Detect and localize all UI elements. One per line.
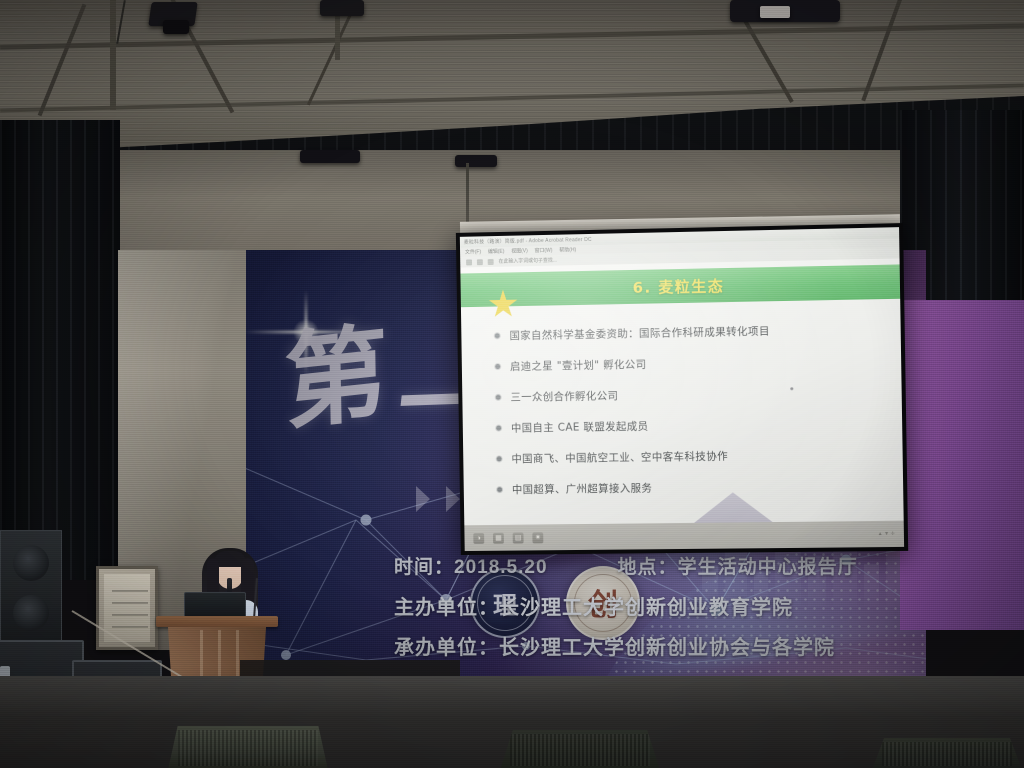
bullet-text: 中国超算、广州超算接入服务 bbox=[512, 480, 653, 497]
speaker-stack bbox=[0, 530, 62, 650]
stage-light-icon bbox=[455, 155, 497, 167]
projected-image: 麦粒科技（路演）简版.pdf - Adobe Acrobat Reader DC… bbox=[460, 227, 904, 551]
save-icon[interactable] bbox=[488, 258, 494, 264]
stage-monitor-wedge bbox=[500, 730, 660, 768]
stage-monitor-wedge bbox=[872, 738, 1022, 768]
stage-light-icon bbox=[300, 150, 360, 163]
bullet-text: 三一众创合作孵化公司 bbox=[510, 388, 618, 405]
pdf-app-title: 麦粒科技（路演）简版.pdf - Adobe Acrobat Reader DC bbox=[464, 236, 592, 246]
slide-bullet-item: 国家自然科学基金委资助：国际合作科研成果转化项目 bbox=[495, 321, 885, 343]
dust-speck bbox=[790, 387, 793, 390]
plaque-inner bbox=[104, 574, 150, 642]
slide-bullet-item: 启迪之星 "壹计划" 孵化公司 bbox=[495, 352, 885, 374]
slide-bullet-item: 中国商飞、中国航空工业、空中客车科技协作 bbox=[497, 446, 887, 466]
bottombar-status: ▲ ▼ ✛ bbox=[878, 531, 895, 537]
bullet-text: 启迪之星 "壹计划" 孵化公司 bbox=[510, 357, 647, 374]
projection-screen-frame: 麦粒科技（路演）简版.pdf - Adobe Acrobat Reader DC… bbox=[456, 223, 908, 555]
stage-monitor-wedge bbox=[168, 726, 328, 768]
home-icon[interactable] bbox=[466, 259, 472, 265]
framed-plaque bbox=[96, 566, 158, 650]
bullet-dot-icon bbox=[496, 426, 501, 431]
podium-top bbox=[156, 616, 278, 627]
bullet-dot-icon bbox=[495, 333, 500, 338]
menu-item-view[interactable]: 视图(V) bbox=[511, 247, 528, 254]
stage-light-lens bbox=[760, 6, 790, 18]
toolbar-search-hint[interactable]: 在此输入字词或句子查找... bbox=[498, 257, 556, 265]
bullet-text: 中国商飞、中国航空工业、空中客车科技协作 bbox=[511, 448, 728, 466]
banner-right-edge bbox=[900, 300, 1024, 630]
tools-icon[interactable] bbox=[477, 259, 483, 265]
slide-bullet-list: 国家自然科学基金委资助：国际合作科研成果转化项目 启迪之星 "壹计划" 孵化公司… bbox=[461, 299, 903, 498]
slide-bullet-item: 中国自主 CAE 联盟发起成员 bbox=[496, 415, 886, 436]
bullet-dot-icon bbox=[497, 456, 502, 461]
pdf-app-bottombar: ◑ ▦ ▤ ✷ ▲ ▼ ✛ bbox=[464, 521, 904, 551]
bullet-dot-icon bbox=[497, 487, 502, 492]
curtain-folds bbox=[0, 120, 120, 580]
bullet-dot-icon bbox=[496, 395, 501, 400]
slide-canvas: 6. 麦粒生态 国家自然科学基金委资助：国际合作科研成果转化项目 启迪之星 "壹… bbox=[460, 258, 903, 525]
slide-decoration-shape bbox=[673, 492, 794, 526]
bullet-dot-icon bbox=[495, 364, 500, 369]
bullet-text: 国家自然科学基金委资助：国际合作科研成果转化项目 bbox=[509, 323, 770, 343]
page-view-icon[interactable]: ◑ bbox=[473, 533, 484, 544]
bullet-text: 中国自主 CAE 联盟发起成员 bbox=[511, 418, 649, 435]
menu-item-help[interactable]: 帮助(H) bbox=[559, 246, 576, 253]
venue-photo: 第 一 策 划 来 bbox=[0, 0, 1024, 768]
slide-bullet-item: 中国超算、广州超算接入服务 bbox=[497, 477, 887, 497]
stage-light-icon bbox=[320, 0, 364, 16]
truss-post bbox=[110, 0, 116, 110]
slide-bullet-item: 三一众创合作孵化公司 bbox=[496, 384, 886, 405]
slide-title: 6. 麦粒生态 bbox=[632, 275, 724, 298]
menu-item-window[interactable]: 窗口(W) bbox=[535, 247, 553, 254]
menu-item-edit[interactable]: 编辑(E) bbox=[488, 248, 505, 255]
thumbnail-icon[interactable]: ▤ bbox=[513, 532, 524, 543]
stage-light-icon bbox=[163, 20, 189, 34]
menu-item-file[interactable]: 文件(F) bbox=[465, 248, 481, 255]
grid-view-icon[interactable]: ▦ bbox=[493, 532, 504, 543]
stage-curtain-left bbox=[0, 120, 120, 580]
settings-icon[interactable]: ✷ bbox=[532, 532, 543, 543]
